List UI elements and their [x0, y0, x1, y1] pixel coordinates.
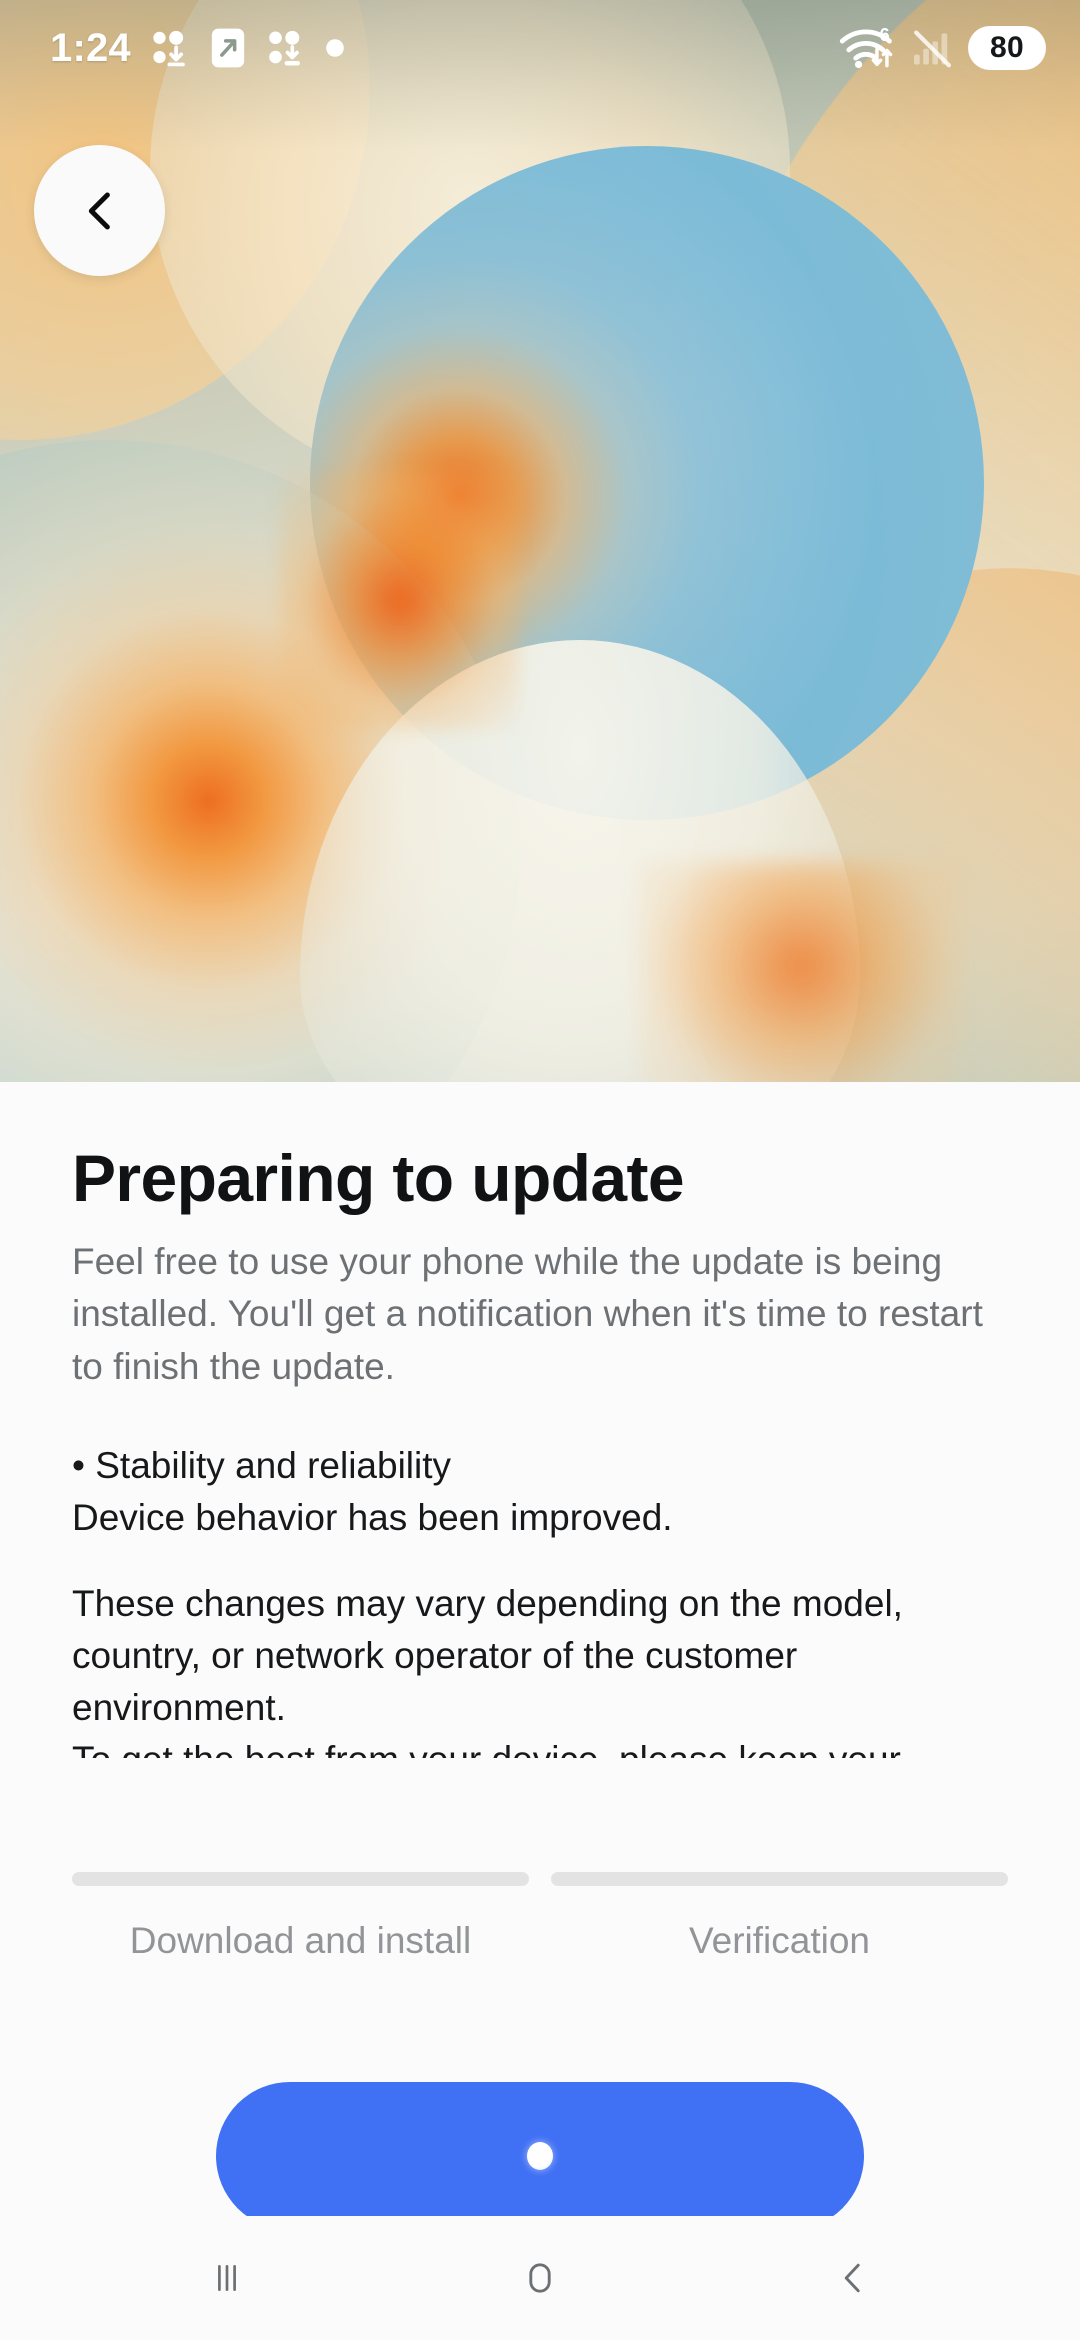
phone-screen: 1:24 — [0, 0, 1080, 2340]
status-bar-left: 1:24 — [50, 26, 345, 71]
loading-dot-icon — [527, 2142, 553, 2170]
svg-text:6: 6 — [879, 25, 889, 45]
changelog-block: • Stability and reliability Device behav… — [72, 1440, 1002, 1544]
nav-back-button[interactable] — [778, 2216, 928, 2340]
progress-step-label: Verification — [689, 1920, 870, 1962]
status-bar: 1:24 — [0, 0, 1080, 96]
changelog-line: To get the best from your device, please… — [72, 1734, 1002, 1757]
content-sheet: Preparing to update Feel free to use you… — [0, 1082, 1080, 2340]
software-update-download-icon — [149, 27, 191, 69]
changelog-text[interactable]: • Stability and reliability Device behav… — [72, 1440, 1002, 1758]
nav-home-button[interactable] — [465, 2216, 615, 2340]
progress-step-label: Download and install — [130, 1920, 471, 1962]
software-update-install-icon — [265, 27, 307, 69]
system-navigation-bar — [0, 2216, 1080, 2340]
changelog-line: Device behavior has been improved. — [72, 1492, 1002, 1544]
hero-illustration — [0, 0, 1080, 1082]
page-title: Preparing to update — [72, 1144, 1080, 1214]
progress-track — [72, 1872, 529, 1886]
orange-hotspot-glow — [280, 470, 520, 730]
progress-step-download: Download and install — [72, 1872, 529, 1962]
status-bar-right: 6 80 — [838, 25, 1046, 71]
cellular-signal-off-icon — [910, 26, 954, 70]
status-clock: 1:24 — [50, 26, 131, 71]
home-icon — [516, 2254, 564, 2302]
progress-track — [551, 1872, 1008, 1886]
changelog-line: These changes may vary depending on the … — [72, 1578, 1002, 1734]
battery-percent-text: 80 — [990, 31, 1024, 65]
app-shortcut-arrow-icon — [209, 27, 247, 69]
more-notifications-dot-icon — [325, 38, 345, 58]
chevron-left-icon — [74, 185, 126, 237]
changelog-block: These changes may vary depending on the … — [72, 1578, 1002, 1758]
primary-action-button[interactable] — [216, 2082, 864, 2230]
page-subtitle: Feel free to use your phone while the up… — [72, 1236, 992, 1394]
progress-step-verification: Verification — [551, 1872, 1008, 1962]
nav-recents-button[interactable] — [152, 2216, 302, 2340]
orange-hotspot-glow-lower — [640, 862, 960, 1082]
progress-steps: Download and install Verification — [0, 1872, 1080, 1962]
back-chevron-icon — [829, 2254, 877, 2302]
wifi-6-icon: 6 — [838, 25, 896, 71]
recents-icon — [203, 2254, 251, 2302]
changelog-line: • Stability and reliability — [72, 1440, 1002, 1492]
battery-level-indicator: 80 — [968, 26, 1046, 70]
back-button[interactable] — [34, 145, 165, 276]
